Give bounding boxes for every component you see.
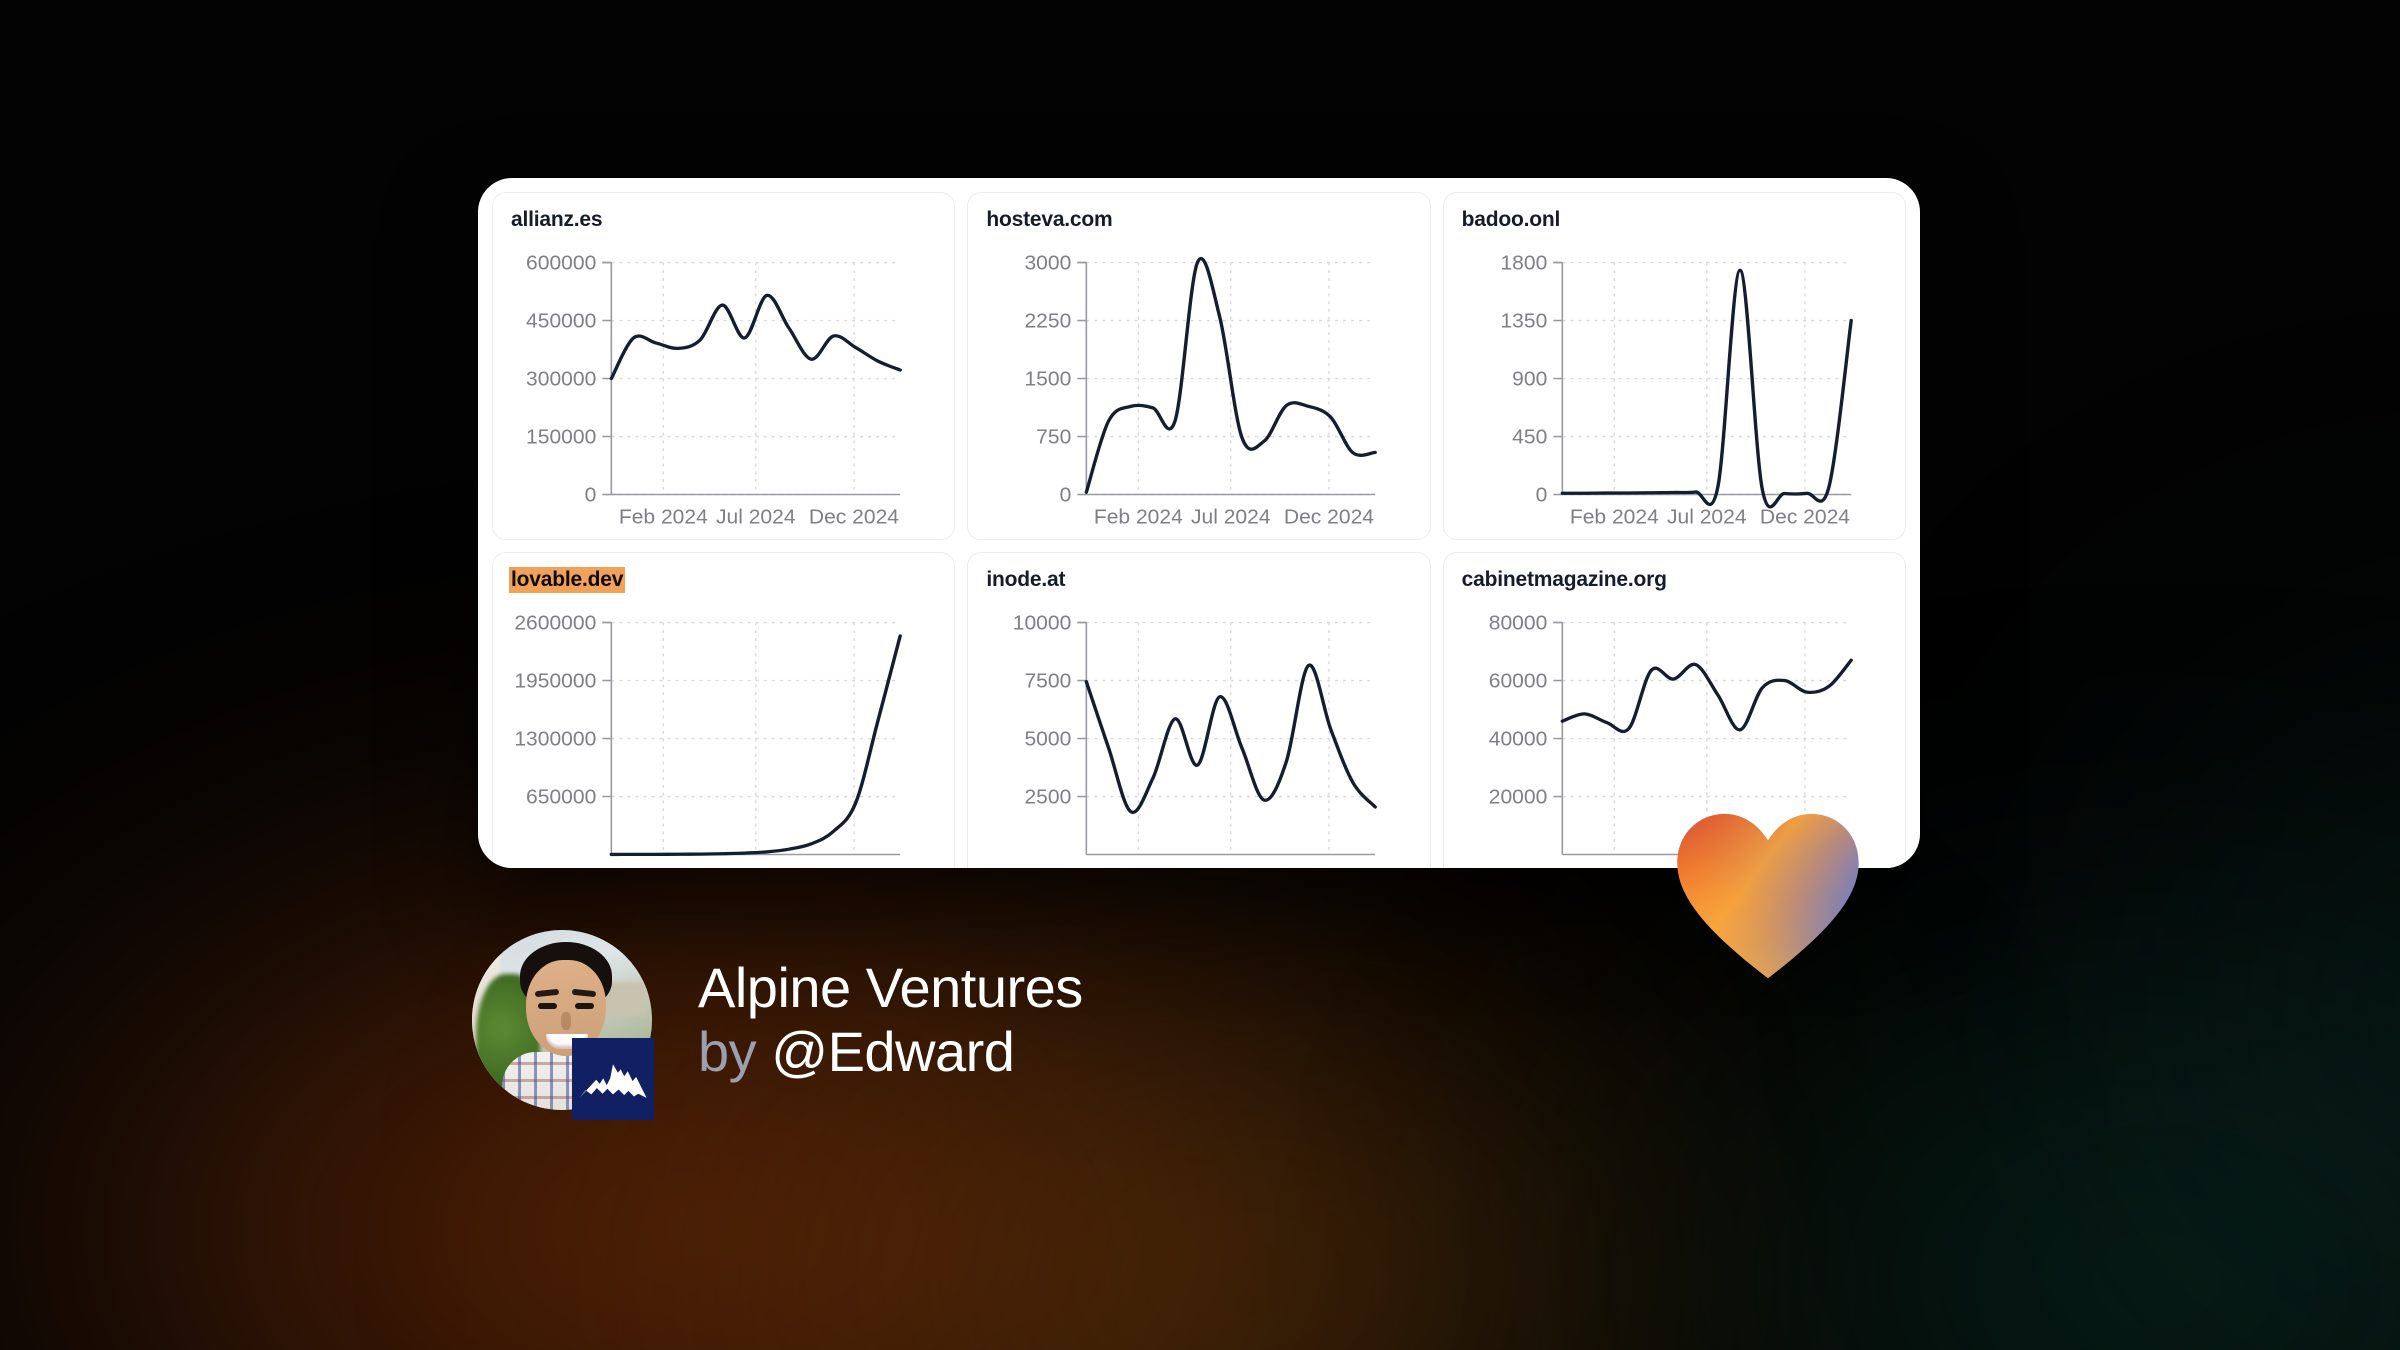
chart-plot-inode-at: 25005000750010000Feb 2024Jul 2024Dec 202… (968, 609, 1429, 868)
chart-plot-allianz-es: 0150000300000450000600000Feb 2024Jul 202… (493, 249, 954, 539)
byline-prefix: by (698, 1020, 756, 1083)
svg-text:60000: 60000 (1488, 670, 1547, 693)
svg-text:Dec 2024: Dec 2024 (1284, 506, 1374, 529)
chart-plot-hosteva-com: 0750150022503000Feb 2024Jul 2024Dec 2024 (968, 249, 1429, 539)
footer-text: Alpine Ventures by @Edward (698, 958, 1083, 1083)
svg-text:Dec 2024: Dec 2024 (809, 506, 899, 529)
svg-text:600000: 600000 (526, 252, 596, 275)
chart-card-badoo-onl[interactable]: badoo.onl045090013501800Feb 2024Jul 2024… (1443, 192, 1906, 540)
svg-text:2600000: 2600000 (514, 612, 596, 635)
chart-card-inode-at[interactable]: inode.at25005000750010000Feb 2024Jul 202… (967, 552, 1430, 868)
mountain-icon (572, 1038, 654, 1120)
byline: by @Edward (698, 1022, 1083, 1082)
chart-plot-badoo-onl: 045090013501800Feb 2024Jul 2024Dec 2024 (1444, 249, 1905, 539)
svg-text:2250: 2250 (1025, 310, 1072, 333)
svg-text:0: 0 (585, 484, 597, 507)
byline-handle: @Edward (771, 1020, 1014, 1083)
svg-text:0: 0 (1060, 484, 1072, 507)
chart-grid: allianz.es0150000300000450000600000Feb 2… (478, 178, 1920, 868)
svg-text:1800: 1800 (1500, 252, 1547, 275)
chart-title-allianz-es: allianz.es (509, 207, 604, 233)
svg-text:Dec 2024: Dec 2024 (1760, 506, 1850, 529)
svg-text:Jul 2024: Jul 2024 (1191, 506, 1271, 529)
avatar-eye-right (575, 1003, 594, 1009)
svg-text:Dec 2024: Dec 2024 (809, 866, 899, 868)
svg-text:80000: 80000 (1488, 612, 1547, 635)
svg-text:7500: 7500 (1025, 670, 1072, 693)
svg-text:2500: 2500 (1025, 786, 1072, 809)
svg-text:Feb 2024: Feb 2024 (1094, 506, 1183, 529)
svg-text:Feb 2024: Feb 2024 (619, 506, 708, 529)
brand-name: Alpine Ventures (698, 958, 1083, 1018)
chart-plot-lovable-dev: 650000130000019500002600000Feb 2024Jul 2… (493, 609, 954, 868)
svg-text:Feb 2024: Feb 2024 (1570, 866, 1659, 868)
svg-text:Jul 2024: Jul 2024 (716, 866, 796, 868)
chart-title-cabinetmagazine-org: cabinetmagazine.org (1460, 567, 1669, 593)
avatar-eye-left (538, 1003, 557, 1009)
chart-title-hosteva-com: hosteva.com (984, 207, 1114, 233)
svg-text:Dec 2024: Dec 2024 (1284, 866, 1374, 868)
svg-text:3000: 3000 (1025, 252, 1072, 275)
lovable-heart-icon (1673, 812, 1863, 982)
svg-text:5000: 5000 (1025, 728, 1072, 751)
svg-text:0: 0 (1535, 484, 1547, 507)
chart-title-badoo-onl: badoo.onl (1460, 207, 1563, 233)
svg-text:Feb 2024: Feb 2024 (619, 866, 708, 868)
svg-text:300000: 300000 (526, 368, 596, 391)
chart-card-hosteva-com[interactable]: hosteva.com0750150022503000Feb 2024Jul 2… (967, 192, 1430, 540)
svg-text:1500: 1500 (1025, 368, 1072, 391)
svg-text:10000: 10000 (1013, 612, 1072, 635)
svg-text:1300000: 1300000 (514, 728, 596, 751)
chart-title-inode-at: inode.at (984, 567, 1067, 593)
svg-text:750: 750 (1036, 426, 1071, 449)
chart-card-lovable-dev[interactable]: lovable.dev650000130000019500002600000Fe… (492, 552, 955, 868)
svg-text:1950000: 1950000 (514, 670, 596, 693)
chart-title-lovable-dev: lovable.dev (509, 567, 625, 593)
footer-attribution: Alpine Ventures by @Edward (472, 930, 1083, 1110)
svg-text:Feb 2024: Feb 2024 (1570, 506, 1659, 529)
svg-text:Jul 2024: Jul 2024 (716, 506, 796, 529)
svg-text:Jul 2024: Jul 2024 (1667, 506, 1747, 529)
svg-text:20000: 20000 (1488, 786, 1547, 809)
svg-text:1350: 1350 (1500, 310, 1547, 333)
dashboard-panel: allianz.es0150000300000450000600000Feb 2… (478, 178, 1920, 868)
svg-text:Jul 2024: Jul 2024 (1191, 866, 1271, 868)
svg-text:450000: 450000 (526, 310, 596, 333)
svg-text:150000: 150000 (526, 426, 596, 449)
chart-card-allianz-es[interactable]: allianz.es0150000300000450000600000Feb 2… (492, 192, 955, 540)
avatar-wrapper (472, 930, 652, 1110)
svg-text:450: 450 (1512, 426, 1547, 449)
avatar-nose (561, 1012, 571, 1030)
svg-text:Feb 2024: Feb 2024 (1094, 866, 1183, 868)
svg-text:40000: 40000 (1488, 728, 1547, 751)
svg-text:650000: 650000 (526, 786, 596, 809)
svg-text:900: 900 (1512, 368, 1547, 391)
